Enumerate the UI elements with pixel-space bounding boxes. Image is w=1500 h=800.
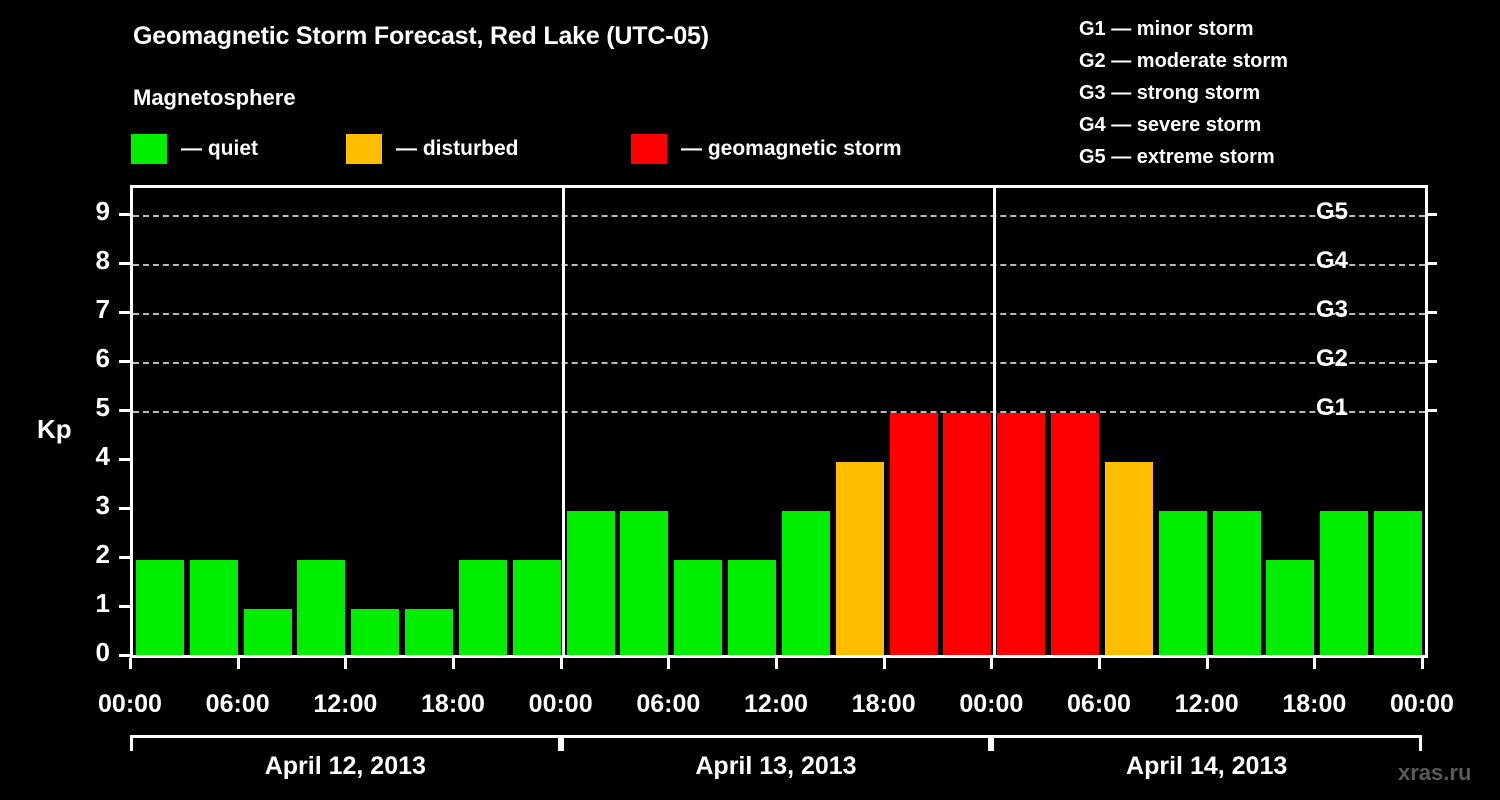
y-tick-mark xyxy=(119,311,130,314)
bar-kp xyxy=(1320,511,1368,658)
y-tick-label-2: 2 xyxy=(70,539,110,570)
page-title: Geomagnetic Storm Forecast, Red Lake (UT… xyxy=(133,22,709,51)
y-tick-label-7: 7 xyxy=(70,294,110,325)
x-tick-label: 00:00 xyxy=(501,690,621,719)
bars-container xyxy=(133,188,1425,658)
y-tick-mark xyxy=(119,360,130,363)
x-tick-label: 18:00 xyxy=(1254,690,1374,719)
green-swatch xyxy=(131,134,167,164)
day-label-2: April 13, 2013 xyxy=(561,752,992,781)
x-tick-mark xyxy=(452,658,455,669)
chart-subtitle: Magnetosphere xyxy=(133,85,296,111)
day-label-3: April 14, 2013 xyxy=(991,752,1422,781)
watermark: xras.ru xyxy=(1398,760,1471,786)
x-tick-mark xyxy=(237,658,240,669)
x-tick-label: 12:00 xyxy=(1147,690,1267,719)
gridline-kp-6 xyxy=(133,362,1425,364)
gridline-kp-9 xyxy=(133,215,1425,217)
red-swatch xyxy=(631,134,667,164)
x-tick-label: 12:00 xyxy=(716,690,836,719)
y-tick-mark xyxy=(119,409,130,412)
y-tick-mark xyxy=(119,556,130,559)
bar-kp xyxy=(190,560,238,658)
y-tick-mark xyxy=(119,507,130,510)
legend-item-0: — quiet xyxy=(131,133,258,165)
bar-kp xyxy=(782,511,830,658)
bar-kp xyxy=(136,560,184,658)
x-tick-label: 06:00 xyxy=(178,690,298,719)
day-separator-1 xyxy=(562,188,565,658)
x-tick-mark xyxy=(883,658,886,669)
g-scale-line-3: G3 — strong storm xyxy=(1079,77,1288,109)
g-tick-label-G5: G5 xyxy=(1316,198,1386,226)
g-scale-line-2: G2 — moderate storm xyxy=(1079,45,1288,77)
g-tick-mark xyxy=(1425,262,1437,265)
bar-kp xyxy=(836,462,884,658)
plot-area xyxy=(130,185,1428,658)
bar-kp xyxy=(513,560,561,658)
y-tick-label-8: 8 xyxy=(70,245,110,276)
day-label-1: April 12, 2013 xyxy=(130,752,561,781)
bar-kp xyxy=(1213,511,1261,658)
bar-kp xyxy=(1159,511,1207,658)
y-tick-mark xyxy=(119,654,130,657)
x-tick-mark xyxy=(129,658,132,669)
g-tick-mark xyxy=(1425,311,1437,314)
g-tick-label-G2: G2 xyxy=(1316,345,1386,373)
y-tick-mark xyxy=(119,213,130,216)
bar-kp xyxy=(459,560,507,658)
gridline-kp-8 xyxy=(133,264,1425,266)
bar-kp xyxy=(244,609,292,658)
bar-kp xyxy=(943,413,991,658)
g-scale-line-5: G5 — extreme storm xyxy=(1079,141,1288,173)
x-tick-label: 00:00 xyxy=(931,690,1051,719)
day-bracket-1 xyxy=(130,735,561,751)
bar-kp xyxy=(1051,413,1099,658)
x-tick-mark xyxy=(560,658,563,669)
gridline-kp-7 xyxy=(133,313,1425,315)
x-tick-mark xyxy=(344,658,347,669)
x-tick-label: 00:00 xyxy=(1362,690,1482,719)
legend-item-label: — geomagnetic storm xyxy=(681,137,902,161)
legend-item-label: — disturbed xyxy=(396,137,519,161)
bar-kp xyxy=(297,560,345,658)
x-tick-label: 00:00 xyxy=(70,690,190,719)
g-tick-label-G1: G1 xyxy=(1316,394,1386,422)
legend-item-label: — quiet xyxy=(181,137,258,161)
bar-kp xyxy=(890,413,938,658)
g-tick-mark xyxy=(1425,360,1437,363)
y-tick-label-9: 9 xyxy=(70,196,110,227)
bar-kp xyxy=(620,511,668,658)
y-tick-label-1: 1 xyxy=(70,588,110,619)
y-tick-label-4: 4 xyxy=(70,441,110,472)
g-tick-label-G3: G3 xyxy=(1316,296,1386,324)
day-bracket-3 xyxy=(991,735,1422,751)
y-tick-mark xyxy=(119,262,130,265)
x-tick-label: 06:00 xyxy=(1039,690,1159,719)
bar-kp xyxy=(728,560,776,658)
orange-swatch xyxy=(346,134,382,164)
bar-kp xyxy=(674,560,722,658)
bar-kp xyxy=(1266,560,1314,658)
y-tick-label-3: 3 xyxy=(70,490,110,521)
x-tick-label: 06:00 xyxy=(608,690,728,719)
y-tick-mark xyxy=(119,458,130,461)
x-tick-label: 18:00 xyxy=(824,690,944,719)
bar-kp xyxy=(997,413,1045,658)
bar-kp xyxy=(567,511,615,658)
legend-item-2: — geomagnetic storm xyxy=(631,133,902,165)
y-tick-mark xyxy=(119,605,130,608)
g-scale-line-1: G1 — minor storm xyxy=(1079,13,1288,45)
g-scale-legend: G1 — minor stormG2 — moderate stormG3 — … xyxy=(1079,13,1288,173)
x-tick-label: 18:00 xyxy=(393,690,513,719)
bar-kp xyxy=(351,609,399,658)
legend-item-1: — disturbed xyxy=(346,133,519,165)
y-tick-label-0: 0 xyxy=(70,637,110,668)
x-axis-line xyxy=(130,655,1428,658)
bar-kp xyxy=(405,609,453,658)
day-bracket-2 xyxy=(561,735,992,751)
x-tick-mark xyxy=(990,658,993,669)
bar-kp xyxy=(1374,511,1422,658)
x-tick-mark xyxy=(1206,658,1209,669)
bar-kp xyxy=(1105,462,1153,658)
y-tick-label-6: 6 xyxy=(70,343,110,374)
y-tick-label-5: 5 xyxy=(70,392,110,423)
x-tick-mark xyxy=(1098,658,1101,669)
x-tick-mark xyxy=(775,658,778,669)
g-tick-mark xyxy=(1425,409,1437,412)
g-tick-label-G4: G4 xyxy=(1316,247,1386,275)
x-tick-mark xyxy=(1421,658,1424,669)
chart-root: Geomagnetic Storm Forecast, Red Lake (UT… xyxy=(0,0,1500,800)
gridline-kp-5 xyxy=(133,411,1425,413)
x-tick-label: 12:00 xyxy=(285,690,405,719)
y-axis-title: Kp xyxy=(37,414,72,445)
day-separator-2 xyxy=(993,188,996,658)
x-tick-mark xyxy=(667,658,670,669)
g-scale-line-4: G4 — severe storm xyxy=(1079,109,1288,141)
x-tick-mark xyxy=(1313,658,1316,669)
g-tick-mark xyxy=(1425,213,1437,216)
